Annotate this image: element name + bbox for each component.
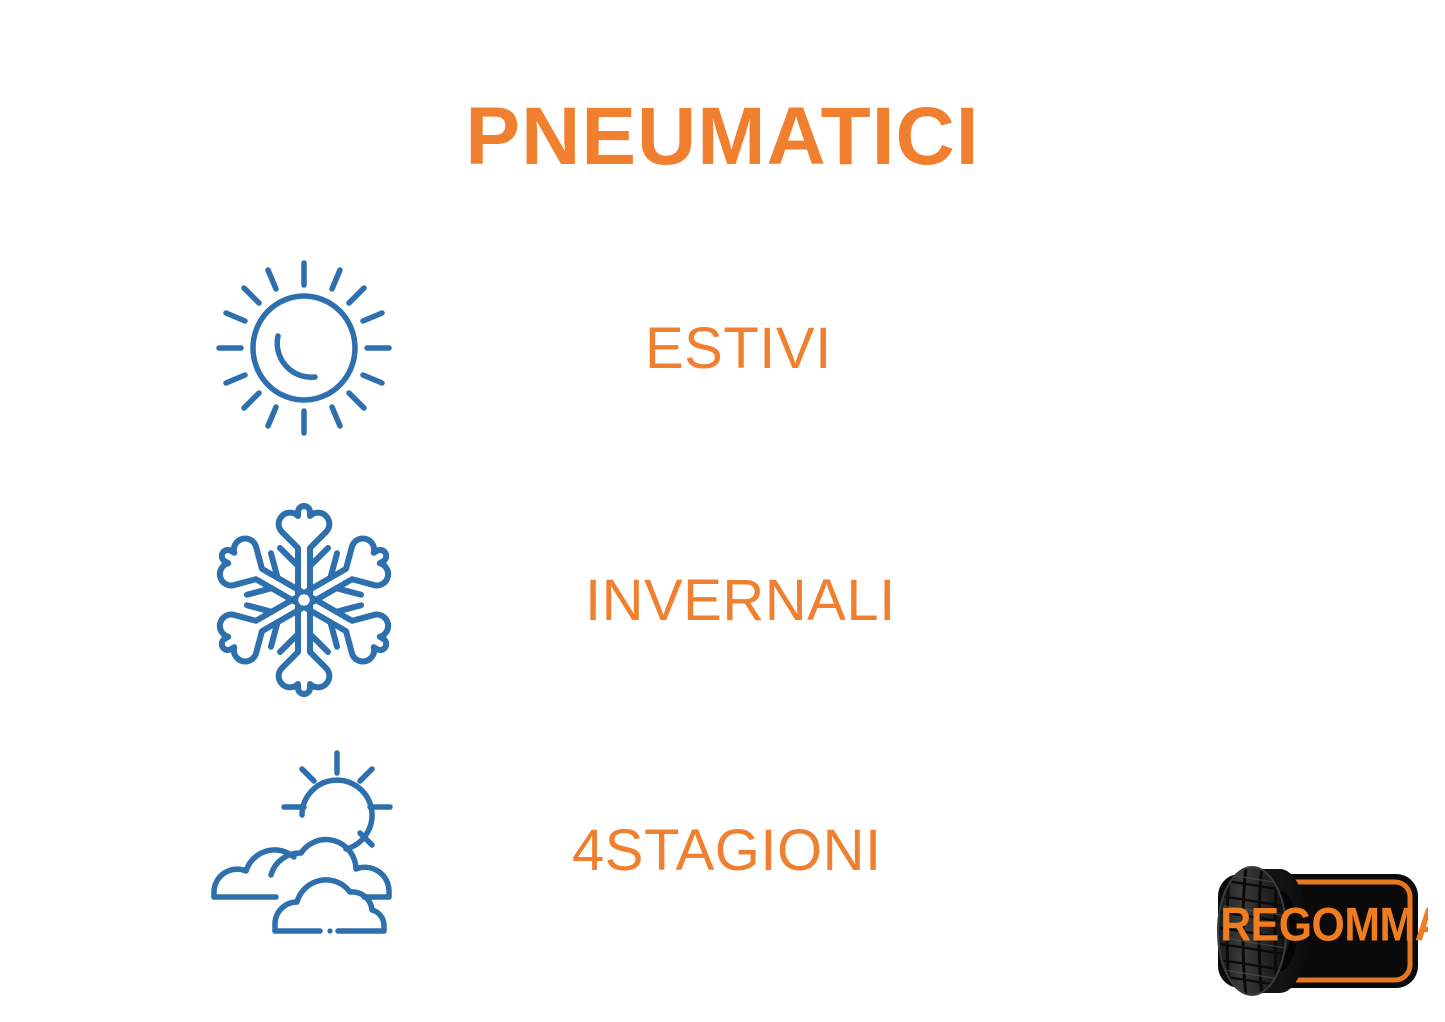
category-label-estivi: ESTIVI	[645, 243, 832, 453]
logo-wordmark: REGOMMA	[1220, 898, 1428, 951]
snowflake-icon	[198, 495, 410, 705]
category-row-estivi: ESTIVI	[0, 243, 1445, 453]
category-label-4stagioni: 4STAGIONI	[572, 745, 882, 955]
sun-icon	[198, 243, 410, 453]
category-label-invernali: INVERNALI	[585, 495, 896, 705]
sun-behind-clouds-icon	[198, 745, 410, 955]
regomma-logo[interactable]: REGOMMA	[1196, 860, 1428, 1002]
page-title: PNEUMATICI	[0, 96, 1445, 178]
category-row-invernali: INVERNALI	[0, 495, 1445, 705]
poster-canvas: PNEUMATICI	[0, 0, 1445, 1022]
